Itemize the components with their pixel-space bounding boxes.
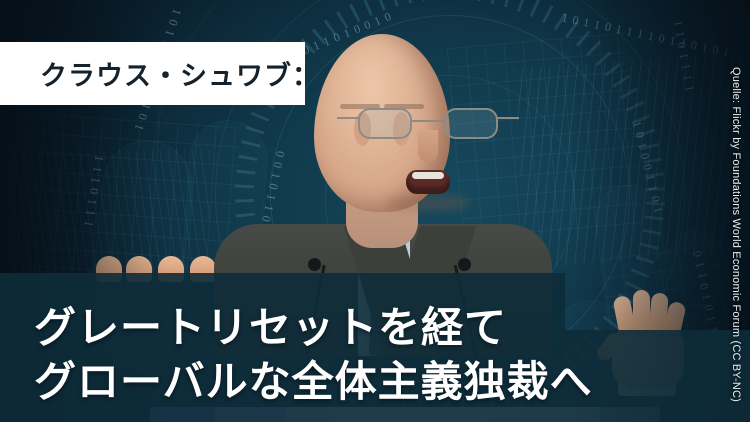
headline-line-1: グレートリセットを経て (34, 301, 660, 355)
credit-text: Quelle: Flickr by Foundations World Econ… (730, 67, 742, 422)
headline-line-2: グローバルな全体主義独裁へ (34, 355, 660, 409)
kicker-banner: クラウス・シュワブ： (0, 42, 305, 105)
thumbnail-image: 1 0 1 1 0 1 1 1 0 1 0 1 0 1 1 0 1 0 0 1 … (0, 0, 750, 422)
headline: グレートリセットを経て グローバルな全体主義独裁へ (0, 273, 660, 422)
kicker-text: クラウス・シュワブ： (40, 54, 320, 93)
credit: Quelle: Flickr by Foundations World Econ… (724, 0, 748, 422)
